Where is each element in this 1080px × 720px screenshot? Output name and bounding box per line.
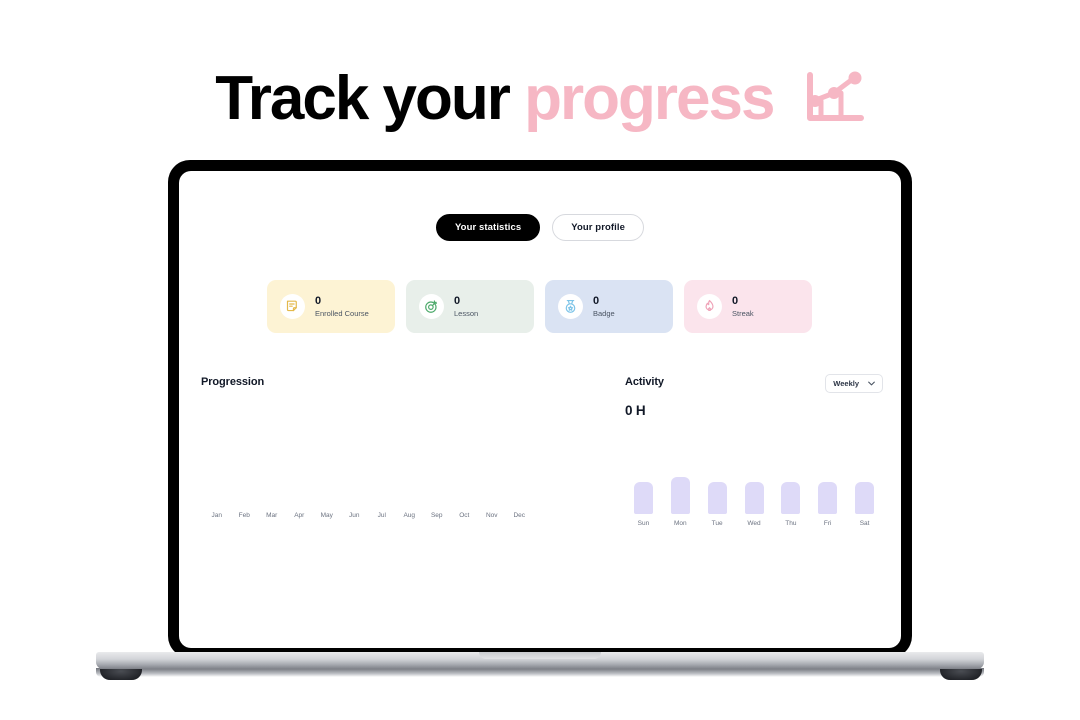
activity-bar[interactable] <box>745 482 764 514</box>
day-label: Mon <box>674 519 687 528</box>
month-label: Nov <box>478 512 506 519</box>
activity-heading-group: Activity <box>625 376 664 388</box>
laptop-foot-left <box>100 669 142 680</box>
stat-text: 0 Streak <box>732 295 754 319</box>
stat-card-row: 0 Enrolled Course 0 <box>267 280 812 333</box>
bar-column[interactable]: Tue <box>699 466 736 528</box>
laptop-base <box>96 652 984 669</box>
month-label: Feb <box>231 512 259 519</box>
month-label: Jan <box>203 512 231 519</box>
day-label: Fri <box>824 519 832 528</box>
stat-card-badge[interactable]: 0 Badge <box>545 280 673 333</box>
stat-label: Badge <box>593 308 615 319</box>
stat-value: 0 <box>315 295 369 308</box>
activity-bar[interactable] <box>818 482 837 514</box>
medal-icon <box>558 294 583 319</box>
progression-section: Progression <box>201 376 531 388</box>
day-label: Sun <box>638 519 650 528</box>
bar-column[interactable]: Wed <box>736 466 773 528</box>
stat-card-lesson[interactable]: 0 Lesson <box>406 280 534 333</box>
activity-title: Activity <box>625 376 664 388</box>
page-title-accent: progress <box>524 64 773 133</box>
activity-bar[interactable] <box>781 482 800 514</box>
activity-bar[interactable] <box>671 477 690 514</box>
stat-label: Enrolled Course <box>315 308 369 319</box>
page-title: Track your progress <box>0 62 1080 142</box>
stat-text: 0 Lesson <box>454 295 478 319</box>
laptop-base-shadow <box>96 668 984 677</box>
stat-card-enrolled-course[interactable]: 0 Enrolled Course <box>267 280 395 333</box>
month-label: Oct <box>451 512 479 519</box>
activity-bar-chart: Sun Mon Tue Wed Thu <box>625 466 883 528</box>
flame-icon <box>697 294 722 319</box>
note-document-icon <box>280 294 305 319</box>
stat-label: Streak <box>732 308 754 319</box>
month-label: Mar <box>258 512 286 519</box>
tab-bar: Your statistics Your profile <box>179 214 901 241</box>
tab-your-statistics[interactable]: Your statistics <box>436 214 540 241</box>
stat-label: Lesson <box>454 308 478 319</box>
activity-period-value: Weekly <box>833 379 859 388</box>
month-label: Jul <box>368 512 396 519</box>
day-label: Thu <box>785 519 796 528</box>
stat-text: 0 Enrolled Course <box>315 295 369 319</box>
month-label: Dec <box>506 512 534 519</box>
app-screen: Your statistics Your profile 0 E <box>179 171 901 648</box>
stat-value: 0 <box>732 295 754 308</box>
stat-card-streak[interactable]: 0 Streak <box>684 280 812 333</box>
bar-column[interactable]: Sun <box>625 466 662 528</box>
month-label: Sep <box>423 512 451 519</box>
bar-column[interactable]: Mon <box>662 466 699 528</box>
progression-title: Progression <box>201 376 531 388</box>
progression-month-axis: Jan Feb Mar Apr May Jun Jul Aug Sep Oct … <box>203 512 533 519</box>
laptop-mockup: Your statistics Your profile 0 E <box>168 160 912 660</box>
day-label: Wed <box>747 519 760 528</box>
stat-value: 0 <box>593 295 615 308</box>
bar-column[interactable]: Thu <box>772 466 809 528</box>
stat-text: 0 Badge <box>593 295 615 319</box>
laptop-foot-right <box>940 669 982 680</box>
month-label: Jun <box>341 512 369 519</box>
month-label: May <box>313 512 341 519</box>
target-icon <box>419 294 444 319</box>
tab-your-profile[interactable]: Your profile <box>552 214 644 241</box>
month-label: Aug <box>396 512 424 519</box>
activity-bar[interactable] <box>855 482 874 514</box>
activity-period-select[interactable]: Weekly <box>825 374 883 393</box>
activity-bar[interactable] <box>708 482 727 514</box>
line-chart-icon <box>803 68 865 142</box>
bar-column[interactable]: Fri <box>809 466 846 528</box>
activity-header: Activity Weekly <box>625 376 883 393</box>
activity-bar[interactable] <box>634 482 653 514</box>
laptop-lid: Your statistics Your profile 0 E <box>168 160 912 658</box>
activity-section: Activity Weekly 0 H <box>625 376 883 418</box>
activity-total-hours: 0 H <box>625 403 883 418</box>
day-label: Sat <box>860 519 870 528</box>
day-label: Tue <box>712 519 723 528</box>
month-label: Apr <box>286 512 314 519</box>
chevron-down-icon <box>868 379 875 388</box>
laptop-base-notch <box>479 652 601 659</box>
bar-column[interactable]: Sat <box>846 466 883 528</box>
page-title-plain: Track your <box>215 64 524 133</box>
stat-value: 0 <box>454 295 478 308</box>
